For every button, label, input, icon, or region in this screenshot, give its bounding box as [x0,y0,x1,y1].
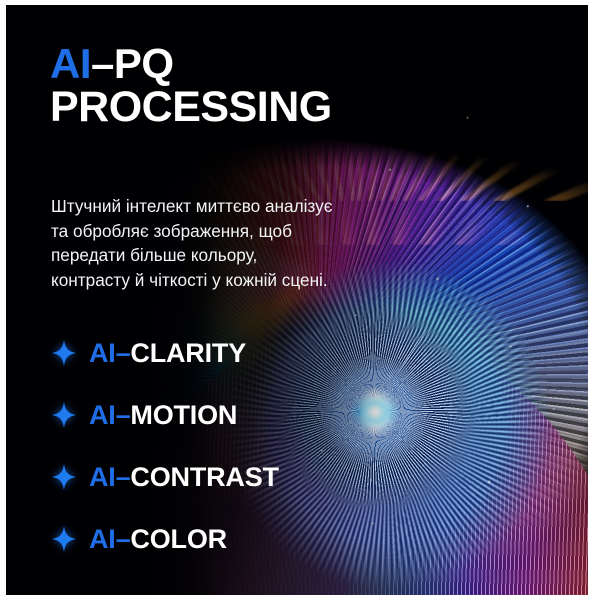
feature-name: MOTION [130,400,237,430]
headline-line-2: PROCESSING [50,86,332,130]
feature-item-color[interactable]: AI–COLOR [52,508,372,570]
feature-prefix: AI– [89,462,130,492]
poster: AI–PQ PROCESSING Штучний інтелект миттєв… [0,0,600,600]
feature-item-clarity[interactable]: AI–CLARITY [52,322,372,384]
feature-label-color: AI–COLOR [89,524,227,555]
headline-pq: –PQ [91,40,174,87]
feature-name: CLARITY [130,338,246,368]
feature-item-motion[interactable]: AI–MOTION [52,384,372,446]
feature-name: CONTRAST [130,462,278,492]
feature-label-clarity: AI–CLARITY [89,338,246,369]
feature-prefix: AI– [89,338,130,368]
sparkle-icon [52,340,76,366]
feature-prefix: AI– [89,400,130,430]
feature-list: AI–CLARITY AI–MOTION AI–CONTRAST [52,322,372,570]
description-paragraph: Штучний інтелект миттєво аналізує та обр… [51,194,341,292]
headline-line-1: AI–PQ [50,43,332,86]
sparkle-icon [52,526,76,552]
sparkle-icon [52,402,76,428]
feature-label-contrast: AI–CONTRAST [89,462,279,493]
page-title: AI–PQ PROCESSING [50,43,332,130]
headline-accent-ai: AI [50,40,91,87]
feature-prefix: AI– [89,524,130,554]
sparkle-icon [52,464,76,490]
feature-label-motion: AI–MOTION [89,400,237,431]
feature-item-contrast[interactable]: AI–CONTRAST [52,446,372,508]
poster-content: AI–PQ PROCESSING Штучний інтелект миттєв… [6,5,588,595]
feature-name: COLOR [130,524,227,554]
poster-stage: AI–PQ PROCESSING Штучний інтелект миттєв… [6,5,588,595]
